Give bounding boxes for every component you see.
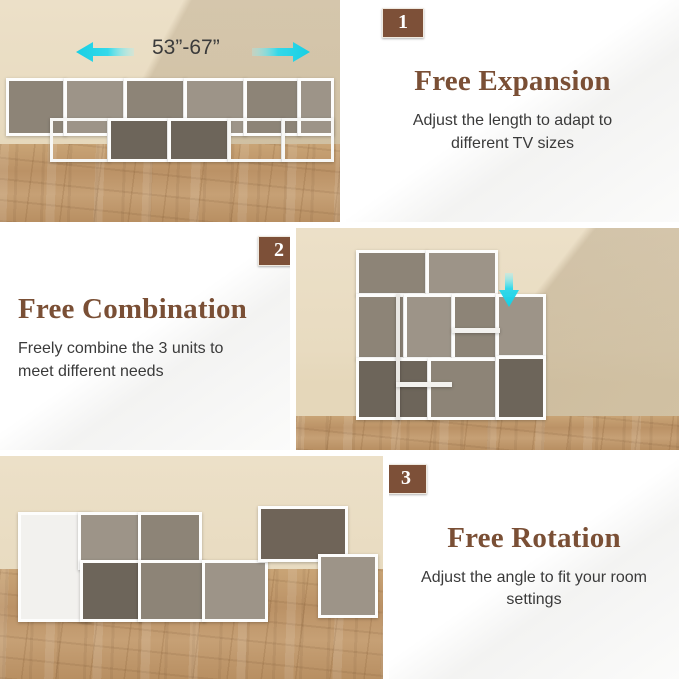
panel-combination-text: 2 Free Combination Freely combine the 3 …: [0, 228, 290, 450]
panel-rotation-photo: 360°: [0, 456, 383, 679]
arrow-left-icon: [76, 41, 134, 68]
product-infographic: 53”-67”: [0, 0, 679, 679]
step-badge-1: 1: [382, 8, 424, 38]
arrow-right-icon: [252, 41, 310, 68]
panel-expansion-text: 1 Free Expansion Adjust the length to ad…: [346, 0, 679, 222]
dimension-label: 53”-67”: [152, 36, 220, 60]
panel-combination-photo: [296, 228, 679, 450]
body-free-combination: Freely combine the 3 units to meet diffe…: [18, 338, 274, 383]
step-badge-3: 3: [389, 464, 427, 494]
tv-stand-rotating: [18, 512, 378, 632]
step-badge-2: 2: [258, 236, 290, 266]
stacked-shelf-unit: [356, 250, 558, 438]
body-free-rotation: Adjust the angle to fit your room settin…: [405, 567, 663, 612]
headline-free-rotation: Free Rotation: [405, 523, 663, 555]
headline-free-expansion: Free Expansion: [362, 66, 663, 98]
panel-rotation-text: 3 Free Rotation Adjust the angle to fit …: [389, 456, 679, 679]
body-free-expansion: Adjust the length to adapt to different …: [362, 110, 663, 155]
headline-free-combination: Free Combination: [18, 294, 274, 326]
panel-expansion-photo: 53”-67”: [0, 0, 340, 222]
arrow-down-icon: [498, 273, 520, 312]
tv-stand-expanded: [6, 78, 334, 162]
